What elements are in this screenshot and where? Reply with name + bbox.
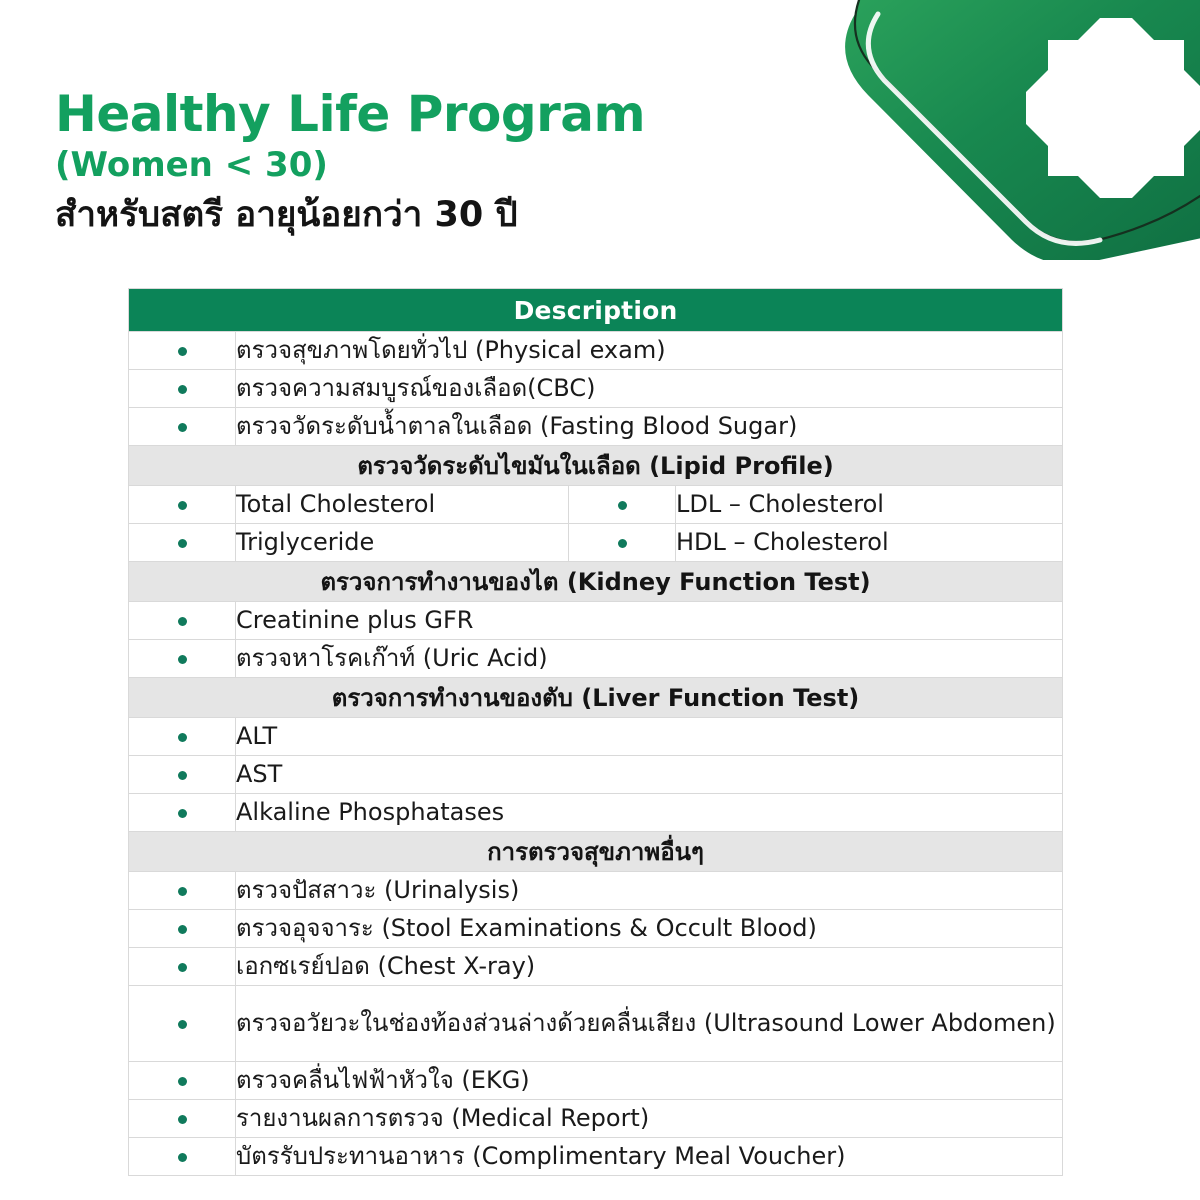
bullet-dot-icon <box>178 617 187 626</box>
bullet-icon <box>129 408 236 446</box>
table-header-row: Description <box>129 289 1063 332</box>
bullet-icon <box>129 524 236 562</box>
bullet-dot-icon <box>178 385 187 394</box>
section-header-label: การตรวจสุขภาพอื่นๆ <box>129 832 1063 872</box>
table-row: Total CholesterolLDL – Cholesterol <box>129 486 1063 524</box>
list-item: LDL – Cholesterol <box>676 486 1063 524</box>
bullet-icon <box>129 602 236 640</box>
list-item: บัตรรับประทานอาหาร (Complimentary Meal V… <box>236 1138 1063 1176</box>
section-header-label: ตรวจการทำงานของไต (Kidney Function Test) <box>129 562 1063 602</box>
bullet-dot-icon <box>178 1153 187 1162</box>
table-row: Alkaline Phosphatases <box>129 794 1063 832</box>
list-item: ตรวจอุจจาระ (Stool Examinations & Occult… <box>236 910 1063 948</box>
bullet-dot-icon <box>618 501 627 510</box>
table-row: AST <box>129 756 1063 794</box>
list-item: ตรวจความสมบูรณ์ของเลือด(CBC) <box>236 370 1063 408</box>
bullet-icon <box>129 718 236 756</box>
list-item: Triglyceride <box>236 524 569 562</box>
table-row: รายงานผลการตรวจ (Medical Report) <box>129 1100 1063 1138</box>
bullet-dot-icon <box>178 1077 187 1086</box>
table-row: ตรวจความสมบูรณ์ของเลือด(CBC) <box>129 370 1063 408</box>
header-decoration <box>760 0 1200 260</box>
bullet-dot-icon <box>618 539 627 548</box>
list-item: ตรวจอวัยวะในช่องท้องส่วนล่างด้วยคลื่นเสี… <box>236 986 1063 1062</box>
table-row: ตรวจอุจจาระ (Stool Examinations & Occult… <box>129 910 1063 948</box>
list-item: ตรวจปัสสาวะ (Urinalysis) <box>236 872 1063 910</box>
table-section-header-row: ตรวจวัดระดับไขมันในเลือด (Lipid Profile) <box>129 446 1063 486</box>
list-item: ตรวจสุขภาพโดยทั่วไป (Physical exam) <box>236 332 1063 370</box>
table-section-header-row: ตรวจการทำงานของไต (Kidney Function Test) <box>129 562 1063 602</box>
bullet-icon <box>129 370 236 408</box>
green-blob-shape <box>760 0 1200 260</box>
table-section-header-row: ตรวจการทำงานของตับ (Liver Function Test) <box>129 678 1063 718</box>
blob-outline-stroke-tail <box>1098 196 1200 240</box>
bullet-dot-icon <box>178 347 187 356</box>
bullet-icon <box>129 332 236 370</box>
list-item: Creatinine plus GFR <box>236 602 1063 640</box>
bullet-dot-icon <box>178 501 187 510</box>
table-row: Creatinine plus GFR <box>129 602 1063 640</box>
table-row: ตรวจอวัยวะในช่องท้องส่วนล่างด้วยคลื่นเสี… <box>129 986 1063 1062</box>
list-item: เอกซเรย์ปอด (Chest X-ray) <box>236 948 1063 986</box>
list-item: ตรวจวัดระดับน้ำตาลในเลือด (Fasting Blood… <box>236 408 1063 446</box>
bullet-icon <box>569 524 676 562</box>
table-row: ตรวจสุขภาพโดยทั่วไป (Physical exam) <box>129 332 1063 370</box>
bullet-dot-icon <box>178 733 187 742</box>
table-row: ALT <box>129 718 1063 756</box>
bullet-icon <box>129 948 236 986</box>
bullet-icon <box>129 486 236 524</box>
table-row: ตรวจคลื่นไฟฟ้าหัวใจ (EKG) <box>129 1062 1063 1100</box>
program-table: Description ตรวจสุขภาพโดยทั่วไป (Physica… <box>128 288 1063 1176</box>
blob-outline-stroke <box>855 0 1098 242</box>
health-program-poster: Healthy Life Program (Women < 30) สำหรับ… <box>0 0 1200 1200</box>
page-subtitle: (Women < 30) <box>55 144 775 187</box>
bullet-dot-icon <box>178 655 187 664</box>
medical-cross-icon <box>1026 18 1200 198</box>
list-item: HDL – Cholesterol <box>676 524 1063 562</box>
table-row: ตรวจหาโรคเก๊าท์ (Uric Acid) <box>129 640 1063 678</box>
bullet-dot-icon <box>178 1115 187 1124</box>
bullet-icon <box>129 1138 236 1176</box>
column-header-description: Description <box>129 289 1063 332</box>
bullet-dot-icon <box>178 809 187 818</box>
section-header-label: ตรวจวัดระดับไขมันในเลือด (Lipid Profile) <box>129 446 1063 486</box>
bullet-icon <box>129 986 236 1062</box>
table-row: ตรวจปัสสาวะ (Urinalysis) <box>129 872 1063 910</box>
list-item: ตรวจหาโรคเก๊าท์ (Uric Acid) <box>236 640 1063 678</box>
list-item: AST <box>236 756 1063 794</box>
bullet-dot-icon <box>178 887 187 896</box>
blob-fill <box>845 0 1200 260</box>
bullet-dot-icon <box>178 423 187 432</box>
list-item: ตรวจคลื่นไฟฟ้าหัวใจ (EKG) <box>236 1062 1063 1100</box>
bullet-icon <box>129 794 236 832</box>
bullet-icon <box>129 640 236 678</box>
page-title-thai: สำหรับสตรี อายุน้อยกว่า 30 ปี <box>55 193 775 239</box>
list-item: Alkaline Phosphatases <box>236 794 1063 832</box>
list-item: Total Cholesterol <box>236 486 569 524</box>
list-item: ALT <box>236 718 1063 756</box>
bullet-dot-icon <box>178 539 187 548</box>
table-row: บัตรรับประทานอาหาร (Complimentary Meal V… <box>129 1138 1063 1176</box>
bullet-icon <box>129 1100 236 1138</box>
title-block: Healthy Life Program (Women < 30) สำหรับ… <box>55 88 775 238</box>
table-row: เอกซเรย์ปอด (Chest X-ray) <box>129 948 1063 986</box>
bullet-icon <box>129 756 236 794</box>
table-section-header-row: การตรวจสุขภาพอื่นๆ <box>129 832 1063 872</box>
list-item: รายงานผลการตรวจ (Medical Report) <box>236 1100 1063 1138</box>
section-header-label: ตรวจการทำงานของตับ (Liver Function Test) <box>129 678 1063 718</box>
bullet-dot-icon <box>178 1020 187 1029</box>
table-row: ตรวจวัดระดับน้ำตาลในเลือด (Fasting Blood… <box>129 408 1063 446</box>
bullet-dot-icon <box>178 771 187 780</box>
bullet-dot-icon <box>178 925 187 934</box>
blob-white-sliver <box>868 14 1100 243</box>
bullet-dot-icon <box>178 963 187 972</box>
bullet-icon <box>129 1062 236 1100</box>
page-title: Healthy Life Program <box>55 88 775 140</box>
bullet-icon <box>129 872 236 910</box>
table-body: ตรวจสุขภาพโดยทั่วไป (Physical exam)ตรวจค… <box>129 332 1063 1176</box>
bullet-icon <box>569 486 676 524</box>
bullet-icon <box>129 910 236 948</box>
table-row: TriglycerideHDL – Cholesterol <box>129 524 1063 562</box>
